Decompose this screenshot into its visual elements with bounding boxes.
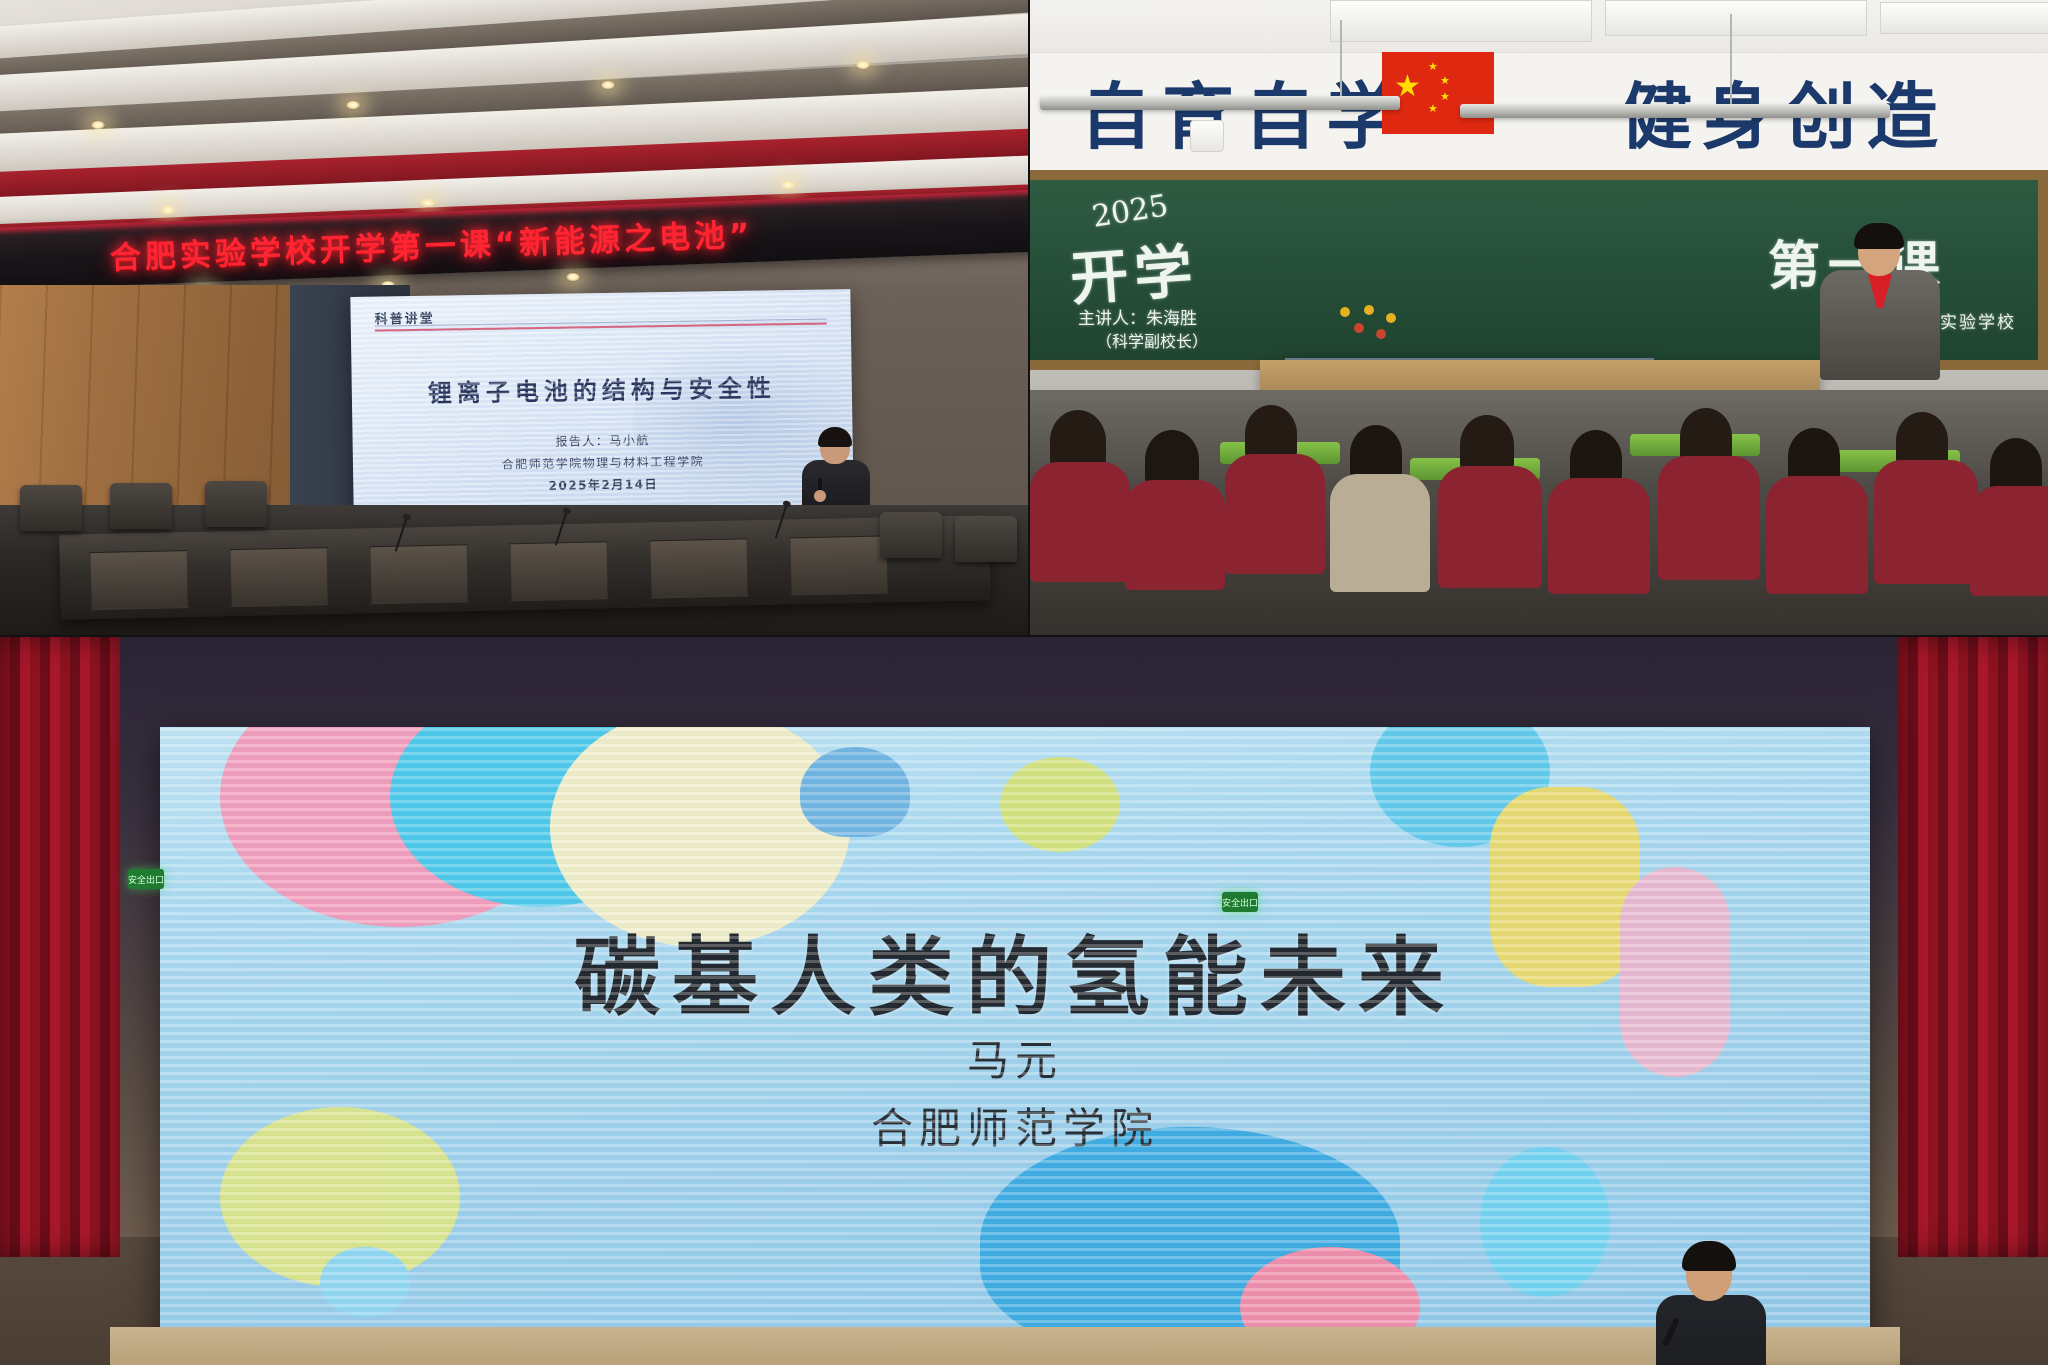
ceiling-downlight <box>565 272 581 282</box>
flag-small-star: ★ <box>1440 76 1450 87</box>
photo-collage: 合肥实验学校开学第一课“新能源之电池” 科普讲堂 锂离子电池的结构与安全性 报告… <box>0 0 2048 1365</box>
ceiling-downlight <box>780 180 796 190</box>
ceiling-panel <box>1880 2 2048 34</box>
chalk-role-line: （科学副校长） <box>1096 328 1208 352</box>
student-audience <box>1030 390 2048 635</box>
flag-small-star: ★ <box>1428 62 1438 73</box>
ceiling-downlight <box>160 205 176 215</box>
stage-apron <box>110 1327 1900 1365</box>
main-slide-affiliation: 合肥师范学院 <box>160 1095 1870 1156</box>
student-uniform <box>1658 456 1760 580</box>
student-uniform <box>1030 462 1130 582</box>
chalk-headline: 开学 <box>1067 224 1201 317</box>
photo-auditorium-lecture: 合肥实验学校开学第一课“新能源之电池” 科普讲堂 锂离子电池的结构与安全性 报告… <box>0 0 1028 635</box>
exit-sign-center: 安全出口 <box>1222 892 1258 912</box>
stage-chair <box>955 516 1017 562</box>
ceiling-downlight <box>855 60 871 70</box>
stage-curtain-left <box>0 637 120 1257</box>
decor-blob-blue <box>800 747 910 837</box>
student-uniform <box>1438 466 1542 588</box>
flower-vase <box>1330 305 1416 369</box>
led-wall-screen: 碳基人类的氢能未来 马元 合肥师范学院 <box>160 727 1870 1347</box>
desk-panel <box>230 547 329 607</box>
ceiling-downlight <box>600 80 616 90</box>
presenter-hand <box>814 490 826 502</box>
chalk-speaker-line: 主讲人：朱海胜 <box>1078 304 1197 329</box>
desk-panel <box>789 535 888 595</box>
stage-chair <box>205 481 267 527</box>
flower <box>1354 323 1364 333</box>
flag-small-star: ★ <box>1428 104 1438 115</box>
flower <box>1376 329 1386 339</box>
ceiling-light-track <box>1460 104 1890 118</box>
main-slide-speaker: 马元 <box>160 1027 1870 1088</box>
stage-chair <box>20 485 82 531</box>
student-uniform <box>1874 460 1978 584</box>
light-suspension-wire <box>1340 20 1342 100</box>
wall-speaker-icon <box>1190 120 1224 152</box>
ceiling-downlight <box>345 100 361 110</box>
student-uniform <box>1125 480 1225 590</box>
classroom-speaker <box>1820 228 1940 376</box>
desk-panel <box>509 541 608 601</box>
decor-blob-green <box>1000 757 1120 852</box>
flag-small-star: ★ <box>1440 92 1450 103</box>
flower <box>1386 313 1396 323</box>
student-uniform <box>1330 474 1430 592</box>
main-slide-title: 碳基人类的氢能未来 <box>160 907 1870 1032</box>
photo-main-hall-hydrogen-lecture: 碳基人类的氢能未来 马元 合肥师范学院 安全出口 安全出口 合肥实验学校 <box>0 637 2048 1365</box>
screen-scanlines <box>350 289 853 512</box>
photo-classroom-first-lesson: 自育自学 健身创造 ★ ★ ★ ★ ★ 2025 开学 主讲人：朱海胜 （科学副… <box>1030 0 2048 635</box>
ceiling-downlight <box>90 120 106 130</box>
wall-motto-left: 自育自学 <box>1080 58 1408 163</box>
light-suspension-wire <box>1730 14 1732 106</box>
flower <box>1364 305 1374 315</box>
flower <box>1340 307 1350 317</box>
student-uniform <box>1766 476 1868 594</box>
projection-screen-auditorium: 科普讲堂 锂离子电池的结构与安全性 报告人：马小航 合肥师范学院物理与材料工程学… <box>350 289 853 512</box>
student-uniform <box>1225 454 1325 574</box>
ceiling-panel <box>1330 0 1592 42</box>
main-hall-speaker <box>1650 1247 1770 1365</box>
decor-blob-cyan <box>1480 1147 1610 1297</box>
ceiling-panel <box>1605 0 1867 36</box>
stage-chair <box>110 483 172 529</box>
exit-sign-left: 安全出口 <box>128 869 164 889</box>
decor-blob-cyan <box>320 1247 410 1317</box>
ceiling-light-track <box>1040 96 1400 110</box>
stage-curtain-right <box>1898 637 2048 1257</box>
presenter-hair <box>818 427 852 447</box>
desk-panel <box>90 550 189 610</box>
desk-panel <box>649 538 748 598</box>
chinese-flag-icon: ★ ★ ★ ★ ★ <box>1382 52 1494 134</box>
student-uniform <box>1970 486 2048 596</box>
student-uniform <box>1548 478 1650 594</box>
desk-panel <box>370 544 469 604</box>
ceiling-downlight <box>420 198 436 208</box>
stage-chair <box>880 512 942 558</box>
